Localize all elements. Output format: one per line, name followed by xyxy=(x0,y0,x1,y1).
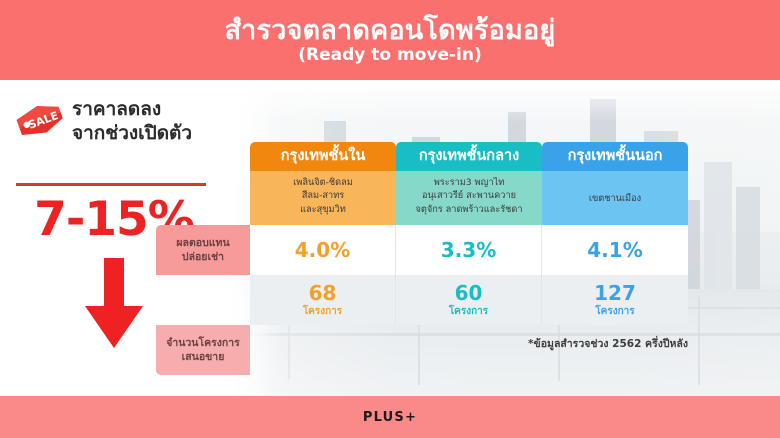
area-line: และสุขุมวิท xyxy=(255,203,391,216)
cell-value: 127 xyxy=(594,283,636,304)
area-line: จตุจักร ลาดพร้าวและรัชดา xyxy=(401,203,537,216)
photo-top-fade xyxy=(228,80,780,122)
down-arrow-icon xyxy=(83,258,145,350)
cell-value: 4.0% xyxy=(295,240,350,261)
column-header-mid-bangkok: กรุงเทพชั้นกลาง xyxy=(396,142,542,171)
header-banner: สำรวจตลาดคอนโดพร้อมอยู่ (Ready to move-i… xyxy=(0,0,780,80)
sale-tag-icon: SALE xyxy=(12,100,68,140)
cell-unit: โครงการ xyxy=(595,305,634,318)
row-label-project-count: จำนวนโครงการ เสนอขาย xyxy=(156,325,250,375)
table-row-project-count: จำนวนโครงการ เสนอขาย 68 โครงการ 60 โครงก… xyxy=(250,275,688,325)
area-line: พระราม3 พญาไท xyxy=(401,176,537,189)
column-areas-inner-bangkok: เพลินจิต-ชิดลม สีลม-สาทร และสุขุมวิท xyxy=(250,171,396,225)
price-drop-line1: ราคาลดลง xyxy=(72,98,192,122)
price-drop-line2: จากช่วงเปิดตัว xyxy=(72,122,192,146)
area-line: เขตชานเมือง xyxy=(547,192,683,205)
row-label-line1: ผลตอบแทน xyxy=(176,236,229,250)
area-line: สีลม-สาทร xyxy=(255,189,391,202)
cell-value: 3.3% xyxy=(441,240,496,261)
price-drop-text: ราคาลดลง จากช่วงเปิดตัว xyxy=(72,98,192,146)
area-line: เพลินจิต-ชิดลม xyxy=(255,176,391,189)
cell-value: 4.1% xyxy=(587,240,642,261)
market-data-table: กรุงเทพชั้นใน กรุงเทพชั้นกลาง กรุงเทพชั้… xyxy=(250,142,688,325)
cell-unit: โครงการ xyxy=(449,305,488,318)
cell-project-count-inner: 68 โครงการ xyxy=(250,275,396,325)
cell-rental-yield-outer: 4.1% xyxy=(542,225,688,275)
cell-rental-yield-mid: 3.3% xyxy=(396,225,542,275)
price-drop-heading: SALE ราคาลดลง จากช่วงเปิดตัว xyxy=(12,98,192,146)
column-header-outer-bangkok: กรุงเทพชั้นนอก xyxy=(542,142,688,171)
page-title: สำรวจตลาดคอนโดพร้อมอยู่ xyxy=(225,16,556,45)
page-subtitle: (Ready to move-in) xyxy=(298,46,482,66)
row-label-line2: ปล่อยเช่า xyxy=(182,250,224,264)
cell-project-count-mid: 60 โครงการ xyxy=(396,275,542,325)
cell-project-count-outer: 127 โครงการ xyxy=(542,275,688,325)
row-label-rental-yield: ผลตอบแทน ปล่อยเช่า xyxy=(156,225,250,275)
infographic-canvas: สำรวจตลาดคอนโดพร้อมอยู่ (Ready to move-i… xyxy=(0,0,780,438)
table-header-row: กรุงเทพชั้นใน กรุงเทพชั้นกลาง กรุงเทพชั้… xyxy=(250,142,688,171)
cell-value: 68 xyxy=(309,283,337,304)
row-label-line1: จำนวนโครงการ xyxy=(166,336,240,350)
cell-value: 60 xyxy=(455,283,483,304)
divider-rule xyxy=(16,183,206,186)
column-areas-outer-bangkok: เขตชานเมือง xyxy=(542,171,688,225)
cell-rental-yield-inner: 4.0% xyxy=(250,225,396,275)
column-areas-mid-bangkok: พระราม3 พญาไท อนุเสาวรีย์ สะพานควาย จตุจ… xyxy=(396,171,542,225)
content-area: SALE ราคาลดลง จากช่วงเปิดตัว 7-15% xyxy=(0,80,780,396)
table-subheader-row: เพลินจิต-ชิดลม สีลม-สาทร และสุขุมวิท พระ… xyxy=(250,171,688,225)
area-line: อนุเสาวรีย์ สะพานควาย xyxy=(401,189,537,202)
column-header-inner-bangkok: กรุงเทพชั้นใน xyxy=(250,142,396,171)
cell-unit: โครงการ xyxy=(303,305,342,318)
table-footnote: *ข้อมูลสำรวจช่วง 2562 ครึ่งปีหลัง xyxy=(250,335,688,352)
footer-band: PLUS+ xyxy=(0,396,780,438)
brand-logo: PLUS+ xyxy=(363,410,417,425)
table-row-rental-yield: ผลตอบแทน ปล่อยเช่า 4.0% 3.3% 4.1% xyxy=(250,225,688,275)
row-label-line2: เสนอขาย xyxy=(182,350,225,364)
